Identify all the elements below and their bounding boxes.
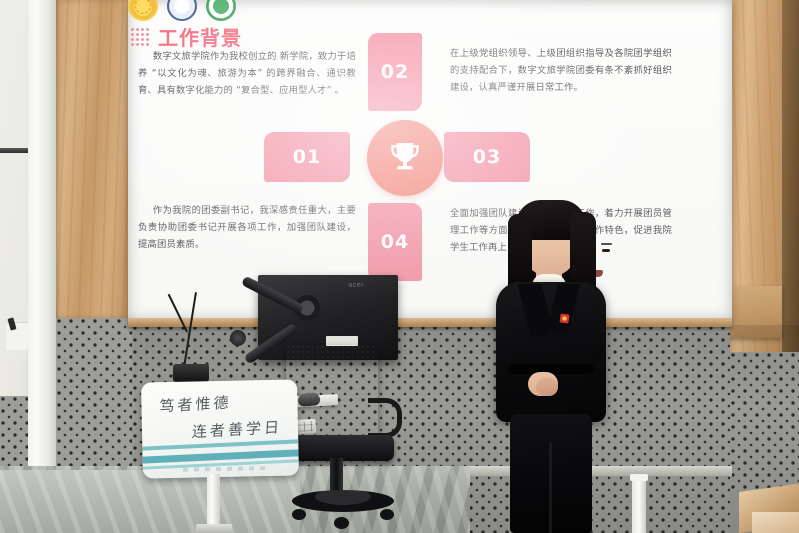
screen-bottom-ledge [128, 318, 732, 327]
microphone-base [173, 364, 209, 382]
projection-screen: 工作背景 数字文旅学院作为我校创立的 新学院，致力于培养 “以文化为魂、旅游为本… [128, 0, 732, 320]
podium-sign-line-2: 连者善学日 [191, 416, 282, 442]
office-chair-base [292, 490, 394, 512]
slide-title-row: 工作背景 [130, 22, 242, 51]
slide-center-badge [367, 120, 443, 196]
dot-grid-decoration-icon [130, 27, 151, 47]
acoustic-panel-left [56, 318, 132, 470]
slide-card-02: 02 [368, 33, 422, 111]
office-chair-caster [380, 509, 394, 520]
wood-furniture-corner-top [752, 512, 799, 533]
trophy-icon [385, 138, 425, 178]
presenter-hand-overlap [536, 378, 558, 396]
slide-title: 工作背景 [158, 22, 242, 51]
office-chair-caster [292, 509, 306, 520]
wood-wall-panel-left [56, 0, 132, 318]
room-scene: 工作背景 数字文旅学院作为我校创立的 新学院，致力于培养 “以文化为魂、旅游为本… [0, 0, 799, 533]
podium-sign: 笃者惟德 连者善学日 [141, 379, 299, 478]
presenter [478, 196, 618, 533]
presenter-eye [602, 249, 610, 252]
presenter-suit-jacket [496, 282, 606, 422]
office-chair-armrest-right[interactable] [368, 398, 402, 438]
presenter-leg-seam [549, 442, 552, 533]
slide-card-04: 04 [368, 203, 422, 281]
slide-card-01: 01 [264, 132, 350, 182]
office-chair-caster [334, 517, 349, 529]
monitor-arm-joint[interactable] [230, 330, 246, 346]
emblem-green-icon [206, 0, 236, 21]
wood-wall-panel-far-right [782, 0, 799, 360]
slide-paragraph-1: 数字文旅学院作为我校创立的 新学院，致力于培养 “以文化为魂、旅游为本” 的跨界… [138, 48, 356, 100]
emblem-blue-university-seal-icon [167, 0, 197, 21]
emblem-gold-icon [128, 0, 158, 21]
room-pillar [28, 0, 56, 470]
presenter-lapel-badge-icon [559, 313, 569, 323]
acoustic-panel-far-left [0, 396, 28, 470]
monitor-brand-label: acer [348, 282, 364, 289]
slide-card-03: 03 [444, 132, 530, 182]
podium-sign-line-1: 笃者惟德 [159, 391, 232, 416]
slide-paragraph-3: 作为我院的团委副书记，我深感责任重大，主要负责协助团委书记开展各项工作，加强团队… [138, 202, 356, 254]
floor-post-cap [630, 474, 648, 481]
office-chair-backrest[interactable] [286, 345, 378, 439]
presenter-eyebrow [601, 243, 612, 245]
podium-sign-foot [196, 524, 232, 533]
podium-sign-small-text [183, 466, 269, 472]
slide-logo-row [128, 0, 236, 21]
floor-post [632, 478, 646, 533]
podium-sign-stripe [142, 439, 298, 450]
slide-paragraph-2: 在上级党组织领导、上级团组织指导及各院团学组织的支持配合下，数字文旅学院团委有条… [450, 45, 672, 97]
carpet-floor-front [0, 470, 300, 533]
